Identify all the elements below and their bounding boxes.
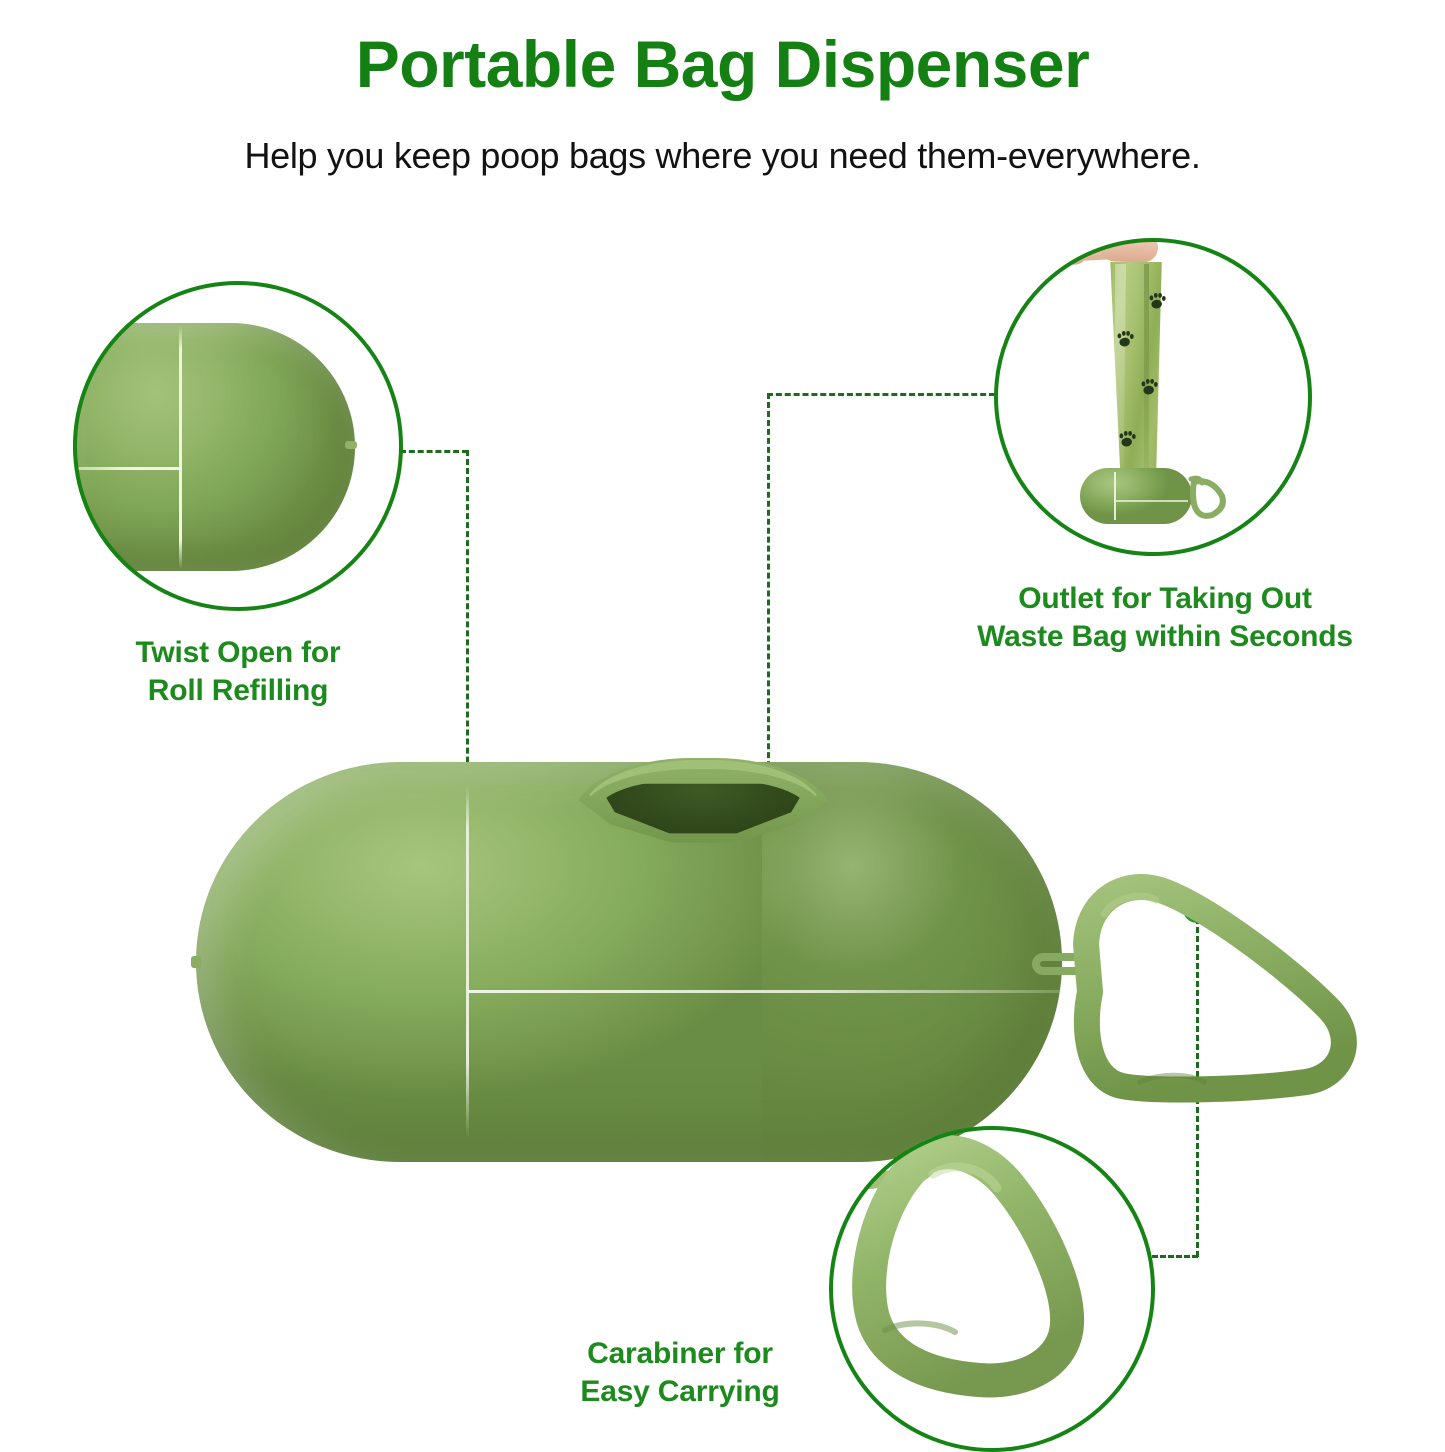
cap-closeup-body <box>73 323 355 571</box>
inset-twist-clip <box>73 281 403 611</box>
caption-carabiner-line2: Easy Carrying <box>500 1373 860 1411</box>
leader-line-outlet-horizontal <box>767 393 995 396</box>
inset-carabiner-closeup <box>829 1126 1155 1452</box>
inset-outlet-clip <box>994 238 1312 556</box>
paw-print-icon <box>1119 431 1135 447</box>
cap-seam-horizontal <box>73 467 181 470</box>
carabiner-shape <box>1044 870 1380 1128</box>
dispenser-seam-horizontal <box>468 990 1062 993</box>
caption-outlet-line2: Waste Bag within Seconds <box>930 618 1400 656</box>
dispenser-outlet-slot <box>574 758 832 862</box>
leader-line-twist-horizontal <box>400 450 468 453</box>
infographic-canvas: Portable Bag Dispenser Help you keep poo… <box>0 0 1445 1445</box>
mini-dispenser-seam-h <box>1116 500 1188 502</box>
paw-print-icon <box>1141 379 1157 395</box>
paw-print-icon <box>1149 293 1165 309</box>
caption-twist-line1: Twist Open for <box>136 636 341 669</box>
inset-outlet-bag-pull <box>994 238 1312 556</box>
dispenser-seam-vertical <box>466 786 469 1138</box>
caption-carabiner-line1: Carabiner for <box>587 1337 773 1370</box>
cap-seam-vertical <box>179 325 182 569</box>
caption-outlet-line1: Outlet for Taking Out <box>1018 582 1312 615</box>
outlet-rim-highlight <box>584 760 822 846</box>
carabiner-hook <box>1044 870 1380 1128</box>
cap-nub <box>345 441 357 449</box>
finger-3 <box>1099 238 1158 263</box>
carabiner-hook-zoom <box>833 1134 1151 1434</box>
mini-dispenser-seam <box>1114 472 1116 520</box>
caption-twist-line2: Roll Refilling <box>48 672 428 710</box>
page-title: Portable Bag Dispenser <box>0 30 1445 99</box>
mini-dispenser-body <box>1080 468 1192 524</box>
page-subtitle: Help you keep poop bags where you need t… <box>0 136 1445 176</box>
caption-carabiner: Carabiner for Easy Carrying <box>500 1335 860 1412</box>
caption-outlet: Outlet for Taking Out Waste Bag within S… <box>930 580 1400 657</box>
main-product-image <box>196 758 1062 1166</box>
leader-line-carabiner-horizontal <box>1152 1255 1198 1258</box>
dispenser-left-nub <box>191 956 201 968</box>
caption-twist-open: Twist Open for Roll Refilling <box>48 634 428 711</box>
inset-twist-open-cap <box>73 281 403 611</box>
paw-print-icon <box>1117 331 1133 347</box>
mini-carabiner-icon <box>1186 474 1228 520</box>
inset-carab-clip <box>829 1126 1155 1452</box>
